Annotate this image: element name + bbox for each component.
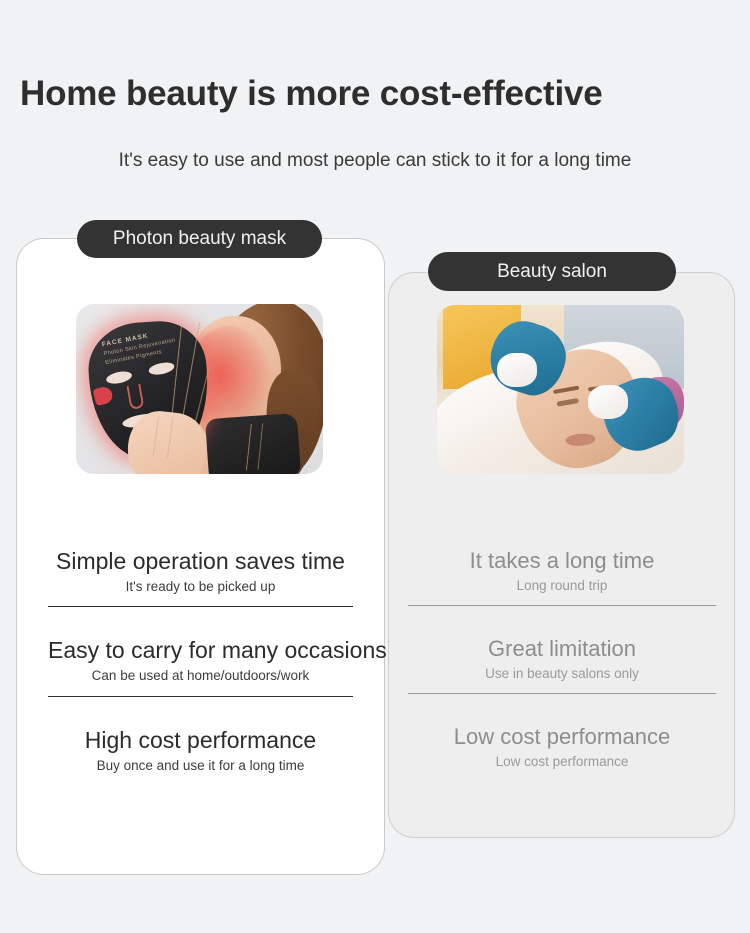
- beauty-salon-feature-list: It takes a long time Long round trip Gre…: [408, 548, 716, 770]
- feature-heading: Low cost performance: [408, 724, 716, 750]
- feature-heading: Easy to carry for many occasions: [48, 637, 353, 664]
- beauty-salon-badge: Beauty salon: [428, 252, 676, 291]
- feature-item: Easy to carry for many occasions Can be …: [48, 637, 353, 696]
- feature-subtext: Use in beauty salons only: [408, 666, 716, 682]
- feature-subtext: Can be used at home/outdoors/work: [48, 668, 353, 684]
- page-title: Home beauty is more cost-effective: [20, 74, 735, 114]
- beauty-salon-photo: [437, 305, 684, 474]
- photon-beauty-mask-badge: Photon beauty mask: [77, 220, 322, 258]
- feature-item: High cost performance Buy once and use i…: [48, 727, 353, 774]
- feature-divider: [408, 605, 716, 606]
- feature-heading: High cost performance: [48, 727, 353, 754]
- photon-mask-feature-list: Simple operation saves time It's ready t…: [48, 548, 353, 774]
- feature-item: It takes a long time Long round trip: [408, 548, 716, 606]
- feature-divider: [48, 606, 353, 607]
- eyebrow-icon: [553, 386, 579, 394]
- page-subtitle: It's easy to use and most people can sti…: [0, 150, 750, 172]
- comparison-page: Home beauty is more cost-effective It's …: [0, 0, 750, 933]
- photon-mask-photo: FACE MASK Photon Skin Rejuvenation Elimi…: [76, 304, 323, 474]
- feature-subtext: Low cost performance: [408, 754, 716, 770]
- mask-eye-opening-icon: [105, 369, 133, 385]
- feature-heading: It takes a long time: [408, 548, 716, 574]
- feature-subtext: It's ready to be picked up: [48, 579, 353, 595]
- feature-heading: Great limitation: [408, 636, 716, 662]
- feature-subtext: Buy once and use it for a long time: [48, 758, 353, 774]
- feature-item: Low cost performance Low cost performanc…: [408, 724, 716, 770]
- beauty-salon-badge-label: Beauty salon: [497, 261, 607, 283]
- cotton-pad-icon: [497, 353, 537, 387]
- photon-beauty-mask-badge-label: Photon beauty mask: [113, 228, 286, 250]
- feature-subtext: Long round trip: [408, 578, 716, 594]
- feature-divider: [48, 696, 353, 697]
- cotton-pad-icon: [588, 385, 628, 419]
- feature-item: Great limitation Use in beauty salons on…: [408, 636, 716, 694]
- mask-side-chip: [92, 385, 114, 406]
- led-neck-band: [205, 413, 301, 474]
- feature-item: Simple operation saves time It's ready t…: [48, 548, 353, 607]
- feature-heading: Simple operation saves time: [48, 548, 353, 575]
- closed-eye-icon: [556, 398, 579, 407]
- feature-divider: [408, 693, 716, 694]
- mask-nose-outline-icon: [126, 384, 144, 410]
- lips-icon: [565, 433, 596, 447]
